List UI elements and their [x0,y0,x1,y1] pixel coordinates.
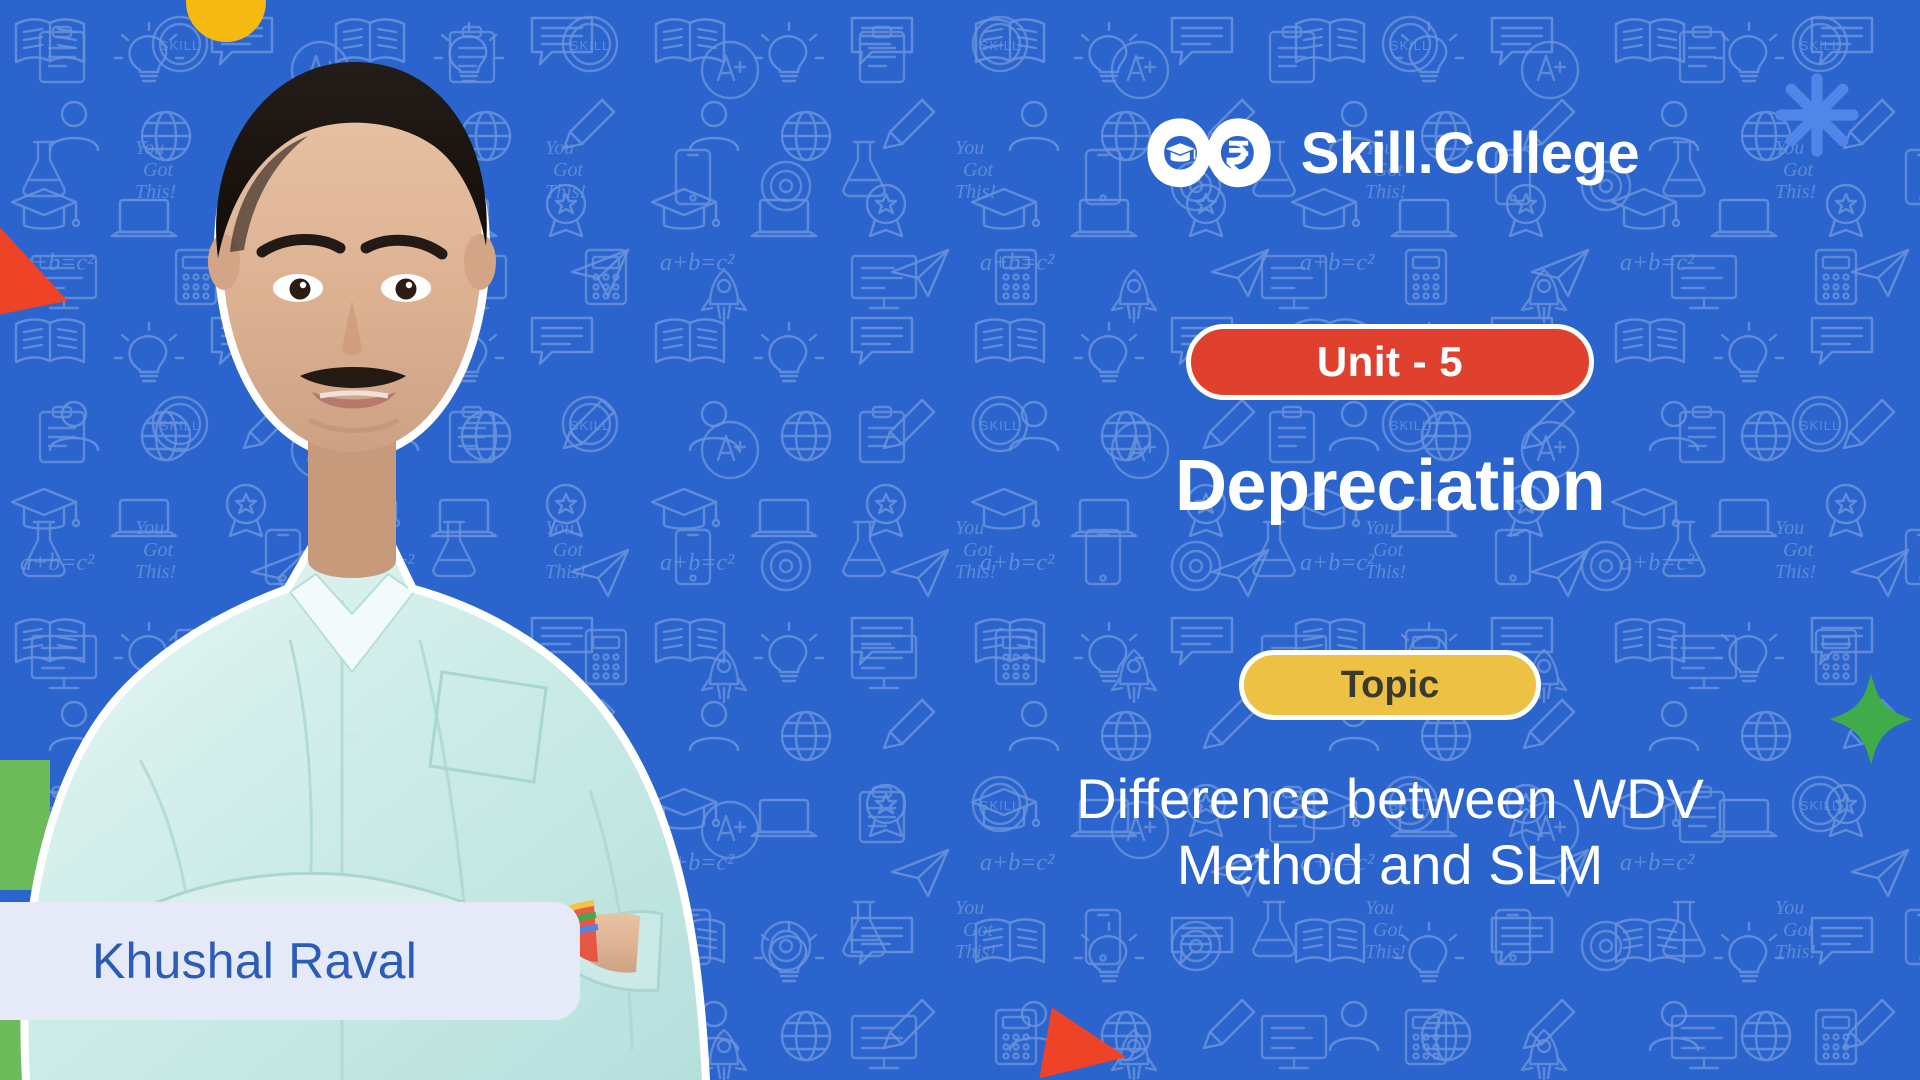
red-triangle-left-decoration [0,220,84,352]
unit-title: Depreciation [1175,450,1605,522]
green-block-upper-decoration [0,760,50,890]
topic-badge-label: Topic [1341,664,1440,707]
lesson-info-panel: Skill.College Unit - 5 Depreciation Topi… [860,0,1920,1080]
topic-title-line-1: Difference between WDV [1076,766,1704,832]
unit-badge[interactable]: Unit - 5 [1186,324,1594,400]
topic-badge[interactable]: Topic [1239,650,1541,720]
infinity-graduation-rupee-icon [1141,112,1277,194]
brand-logo[interactable]: Skill.College [1141,112,1639,194]
topic-title: Difference between WDV Method and SLM [1076,766,1704,898]
topic-title-line-2: Method and SLM [1076,832,1704,898]
presenter-name-card: Khushal Raval [0,902,580,1020]
brand-name: Skill.College [1301,120,1639,187]
lesson-title-slide: SKILL a+b=c² You Got This! [0,0,1920,1080]
presenter-name: Khushal Raval [92,932,417,990]
unit-badge-label: Unit - 5 [1317,338,1463,386]
yellow-circle-decoration [186,0,266,42]
